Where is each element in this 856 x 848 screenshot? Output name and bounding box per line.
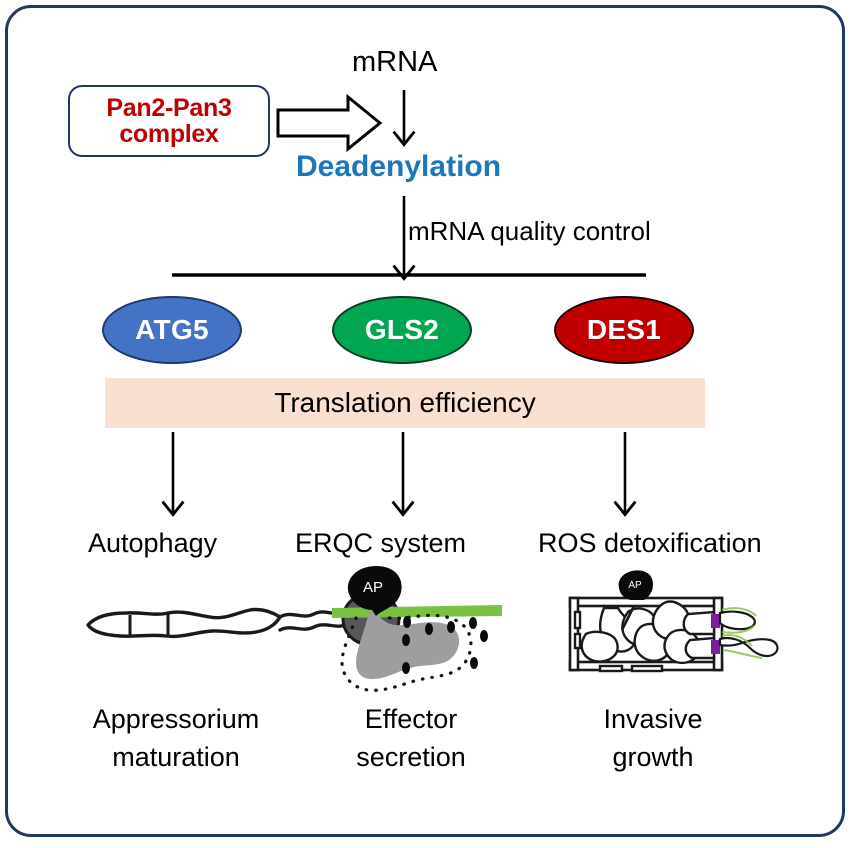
translation-efficiency-label: Translation efficiency <box>274 387 535 419</box>
gene-node-gls2-label: GLS2 <box>365 314 439 346</box>
pan2-pan3-line1: Pan2-Pan3 <box>106 95 231 122</box>
outcome-label-ros-detoxification: ROS detoxification <box>538 528 762 559</box>
translation-efficiency-band: Translation efficiency <box>105 378 705 428</box>
outcome-label-autophagy: Autophagy <box>88 528 217 559</box>
phenotype-2-line1: Effector <box>308 700 514 738</box>
gene-node-atg5: ATG5 <box>102 296 242 364</box>
gene-node-gls2: GLS2 <box>332 296 472 364</box>
gene-node-des1-label: DES1 <box>587 314 661 346</box>
phenotype-1-line1: Appressorium <box>58 700 294 738</box>
outcome-label-erqc-system: ERQC system <box>295 528 466 559</box>
mrna-quality-control-label: mRNA quality control <box>408 216 651 247</box>
pan2-pan3-complex-box: Pan2-Pan3 complex <box>68 85 270 157</box>
phenotype-1-line2: maturation <box>58 738 294 776</box>
diagram-canvas: Pan2-Pan3 complex mRNA Deadenylation mRN… <box>0 0 856 848</box>
pan2-pan3-line2: complex <box>106 121 231 148</box>
phenotype-label-invasive-growth: Invasive growth <box>548 700 758 777</box>
phenotype-3-line2: growth <box>548 738 758 776</box>
phenotype-3-line1: Invasive <box>548 700 758 738</box>
gene-node-des1: DES1 <box>554 296 694 364</box>
pan2-pan3-complex-label: Pan2-Pan3 complex <box>106 95 231 148</box>
mrna-label: mRNA <box>352 46 437 79</box>
phenotype-2-line2: secretion <box>308 738 514 776</box>
deadenylation-label: Deadenylation <box>296 150 501 184</box>
gene-node-atg5-label: ATG5 <box>135 314 209 346</box>
phenotype-label-effector-secretion: Effector secretion <box>308 700 514 777</box>
phenotype-label-appressorium-maturation: Appressorium maturation <box>58 700 294 777</box>
